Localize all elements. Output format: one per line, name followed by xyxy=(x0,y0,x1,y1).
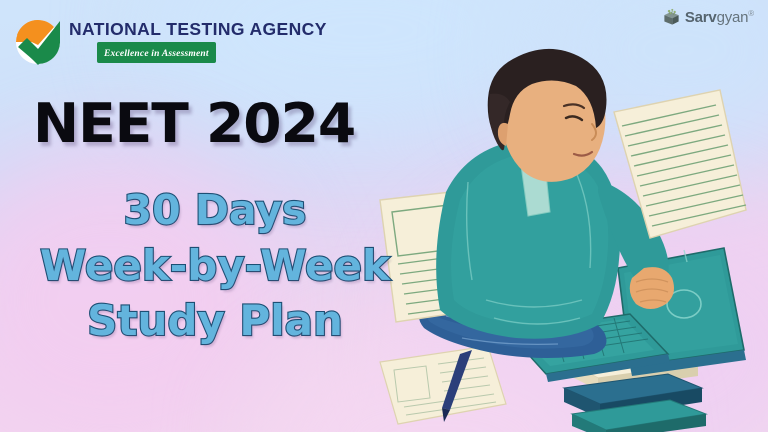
page-title: NEET 2024 xyxy=(33,92,355,155)
subtitle-line-3: Study Plan xyxy=(0,293,430,349)
sarvgyan-registered-mark: ® xyxy=(748,9,754,18)
nta-emblem-icon xyxy=(14,17,62,67)
subtitle-line-1: 30 Days xyxy=(0,183,430,238)
nta-agency-name: NATIONAL TESTING AGENCY xyxy=(69,21,327,39)
poster-canvas: NATIONAL TESTING AGENCY Excellence in As… xyxy=(0,0,768,432)
sarvgyan-brand-light: gyan xyxy=(717,9,749,26)
sarvgyan-wordmark: Sarvgyan® xyxy=(685,9,754,26)
nta-logo: NATIONAL TESTING AGENCY Excellence in As… xyxy=(14,17,327,67)
subtitle-block: 30 Days Week-by-Week Study Plan xyxy=(0,183,430,349)
sarvgyan-watermark: Sarvgyan® xyxy=(662,8,754,27)
nta-logo-text: NATIONAL TESTING AGENCY Excellence in As… xyxy=(69,21,327,63)
subtitle-line-2: Week-by-Week xyxy=(0,238,430,294)
nta-tagline: Excellence in Assessment xyxy=(104,49,209,59)
nta-tagline-banner: Excellence in Assessment xyxy=(97,42,216,63)
sarvgyan-brand-bold: Sarv xyxy=(685,9,717,26)
floor-paper-icon xyxy=(380,346,506,424)
sarvgyan-book-icon xyxy=(662,8,681,27)
